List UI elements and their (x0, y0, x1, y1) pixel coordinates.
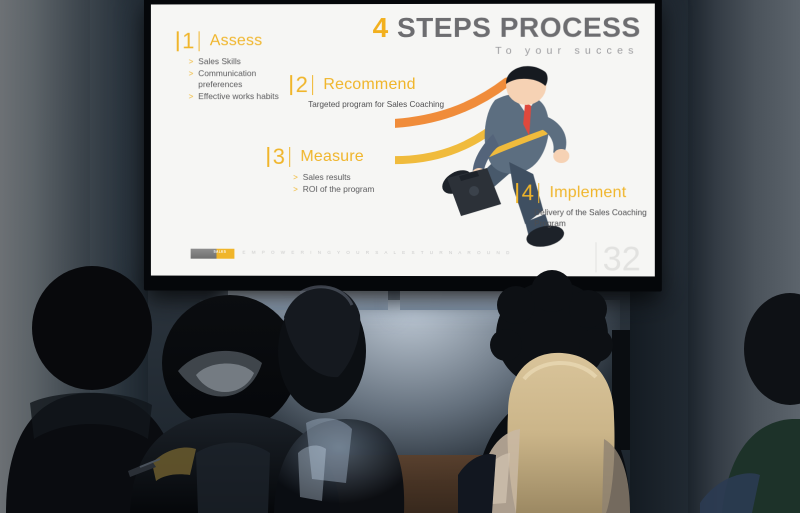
audience-person-5 (458, 353, 630, 513)
bullet-text: Sales Skills (198, 56, 241, 67)
step-3-heading: 3 Measure (263, 146, 374, 168)
list-item: >Effective works habits (189, 91, 282, 102)
step-2-description: Targeted program for Sales Coaching (308, 99, 444, 110)
list-item: >Sales results (293, 172, 374, 183)
step-4-block: 4 Implement Delivery of the Sales Coachi… (512, 182, 655, 229)
step-4-bar-right-icon (538, 183, 540, 203)
caret-icon: > (293, 172, 298, 183)
step-3-bar-left-icon (267, 147, 268, 167)
step-2-heading: 2 Recommend (286, 74, 444, 96)
caret-icon: > (189, 56, 194, 67)
slide-canvas: 4 STEPS PROCESS To your succes (151, 4, 655, 277)
step-3-block: 3 Measure >Sales results >ROI of the pro… (263, 146, 374, 196)
step-2-bar-left-icon (290, 75, 291, 95)
step-4-heading: 4 Implement (512, 182, 655, 204)
step-2-title: Recommend (323, 76, 415, 94)
step-3-bar-right-icon (289, 147, 290, 167)
step-1-block: 1 Assess >Sales Skills >Communication pr… (173, 30, 282, 104)
title-text: STEPS PROCESS (397, 12, 641, 43)
slide-title-block: 4 STEPS PROCESS To your succes (373, 14, 641, 57)
step-3-title: Measure (300, 148, 364, 166)
step-4-bar-left-icon (516, 183, 518, 203)
step-4-title: Implement (550, 184, 627, 202)
title-number: 4 (373, 12, 389, 43)
step-1-bar-right-icon (198, 31, 199, 51)
bullet-text: ROI of the program (303, 184, 375, 195)
step-1-heading: 1 Assess (173, 30, 282, 52)
list-item: >Sales Skills (189, 56, 282, 67)
caret-icon: > (189, 92, 194, 103)
page-title: 4 STEPS PROCESS (373, 14, 641, 42)
list-item: >Communication preferences (189, 68, 282, 90)
bullet-text: Sales results (303, 172, 351, 183)
step-3-bullets: >Sales results >ROI of the program (293, 172, 374, 195)
step-1-bar-left-icon (177, 31, 178, 51)
step-2-bar-right-icon (312, 75, 313, 95)
bullet-text: Communication preferences (198, 68, 282, 90)
step-1-bullets: >Sales Skills >Communication preferences… (189, 56, 282, 103)
audience-person-6 (700, 293, 800, 513)
step-1-number: 1 (182, 30, 194, 52)
step-3-number: 3 (273, 146, 285, 168)
presentation-room-photo: 4 STEPS PROCESS To your succes (0, 0, 800, 513)
step-2-number: 2 (296, 74, 308, 96)
step-4-description: Delivery of the Sales Coaching Program (534, 207, 655, 229)
projection-screen: 4 STEPS PROCESS To your succes (144, 0, 662, 292)
step-1-title: Assess (210, 32, 263, 50)
step-4-number: 4 (522, 182, 534, 204)
slide-subtitle: To your succes (373, 45, 641, 57)
step-2-block: 2 Recommend Targeted program for Sales C… (286, 74, 444, 110)
caret-icon: > (293, 184, 298, 195)
audience-silhouettes (0, 253, 800, 513)
caret-icon: > (189, 68, 194, 90)
list-item: >ROI of the program (293, 184, 374, 195)
bullet-text: Effective works habits (198, 91, 278, 102)
audience-person-3 (274, 287, 404, 513)
